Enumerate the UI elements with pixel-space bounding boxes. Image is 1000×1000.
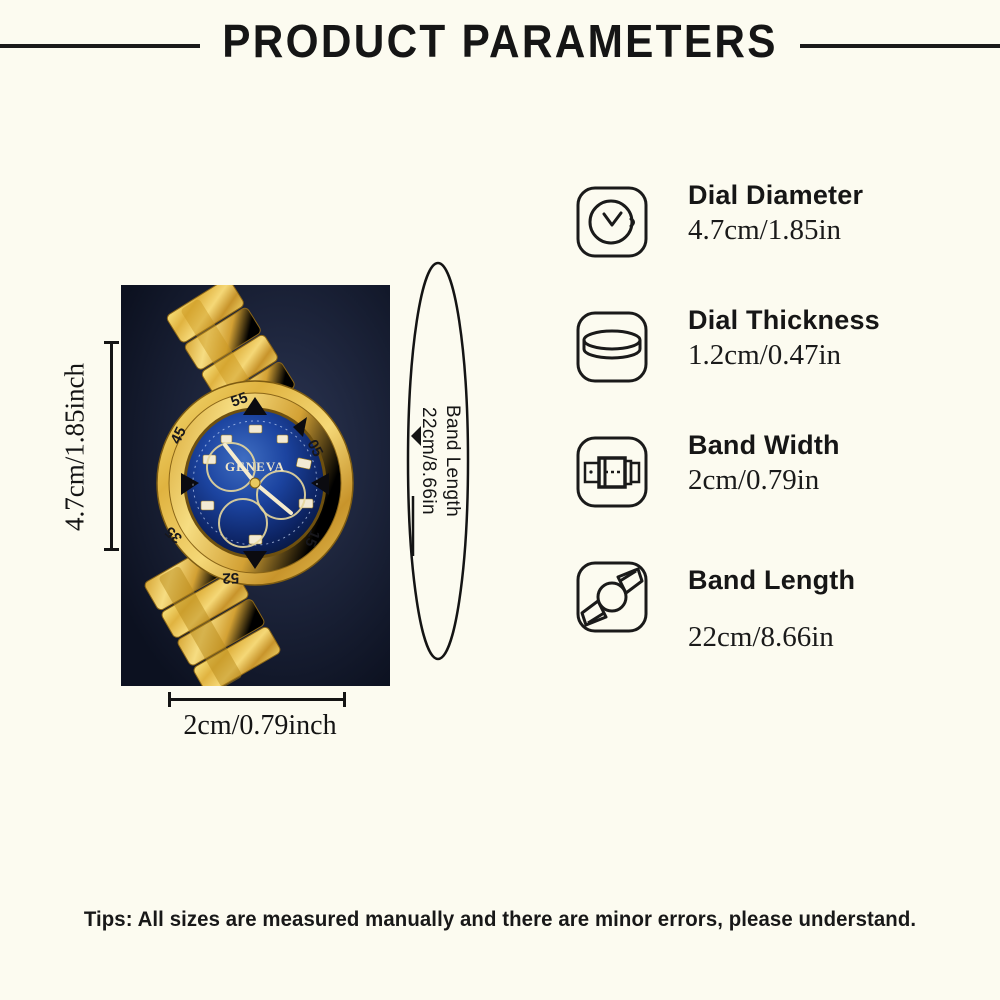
spec-label: Dial Thickness xyxy=(688,303,978,337)
oval-callout-label: Band Length xyxy=(441,405,463,517)
svg-text:GENEVA: GENEVA xyxy=(225,459,285,474)
spec-item-dial-diameter: Dial Diameter 4.7cm/1.85in xyxy=(560,178,980,303)
watch-band-icon xyxy=(574,559,650,635)
spec-value: 22cm/8.66in xyxy=(688,597,978,655)
product-photo: 55 05 15 52 35 45 xyxy=(121,285,390,686)
photo-area: 55 05 15 52 35 45 xyxy=(0,0,520,1000)
dimension-cap-right xyxy=(343,692,346,707)
gold-watch-illustration: 55 05 15 52 35 45 xyxy=(121,285,390,686)
oval-callout-value: 22cm/8.66in xyxy=(417,407,439,515)
oval-callout-text: Band Length 22cm/8.66in xyxy=(404,256,472,666)
watch-clock-icon xyxy=(574,184,650,260)
vertical-dimension-text: 4.7cm/1.85inch xyxy=(60,363,91,531)
spec-label: Band Length xyxy=(688,553,978,597)
spec-label: Band Width xyxy=(688,428,978,462)
spec-value: 1.2cm/0.47in xyxy=(688,337,978,373)
dimension-line-horizontal xyxy=(168,698,346,701)
spec-value: 2cm/0.79in xyxy=(688,462,978,498)
vertical-dimension-bar xyxy=(104,341,118,551)
spec-text-band-length: Band Length 22cm/8.66in xyxy=(688,553,978,655)
spec-label: Dial Diameter xyxy=(688,178,978,212)
spec-item-band-width: Band Width 2cm/0.79in xyxy=(560,428,980,553)
horizontal-dimension-bar xyxy=(168,692,346,706)
dimension-cap-bottom xyxy=(104,548,119,551)
spec-list: Dial Diameter 4.7cm/1.85in Dial Thicknes… xyxy=(560,178,980,693)
horizontal-dimension-text: 2cm/0.79inch xyxy=(110,710,410,742)
band-length-oval-callout: Band Length 22cm/8.66in xyxy=(404,256,472,666)
svg-text:52: 52 xyxy=(222,569,239,587)
buckle-strap-icon xyxy=(574,434,650,510)
spec-item-band-length: Band Length 22cm/8.66in xyxy=(560,553,980,693)
footer-tips: Tips: All sizes are measured manually an… xyxy=(15,908,985,932)
dimension-line-vertical xyxy=(110,341,113,551)
cylinder-thickness-icon xyxy=(574,309,650,385)
spec-value: 4.7cm/1.85in xyxy=(688,212,978,248)
spec-text-band-width: Band Width 2cm/0.79in xyxy=(688,428,978,498)
vertical-dimension-label: 4.7cm/1.85inch xyxy=(60,341,90,553)
spec-text-dial-diameter: Dial Diameter 4.7cm/1.85in xyxy=(688,178,978,248)
product-parameters-page: PRODUCT PARAMETERS xyxy=(0,0,1000,1000)
spec-text-dial-thickness: Dial Thickness 1.2cm/0.47in xyxy=(688,303,978,373)
spec-item-dial-thickness: Dial Thickness 1.2cm/0.47in xyxy=(560,303,980,428)
